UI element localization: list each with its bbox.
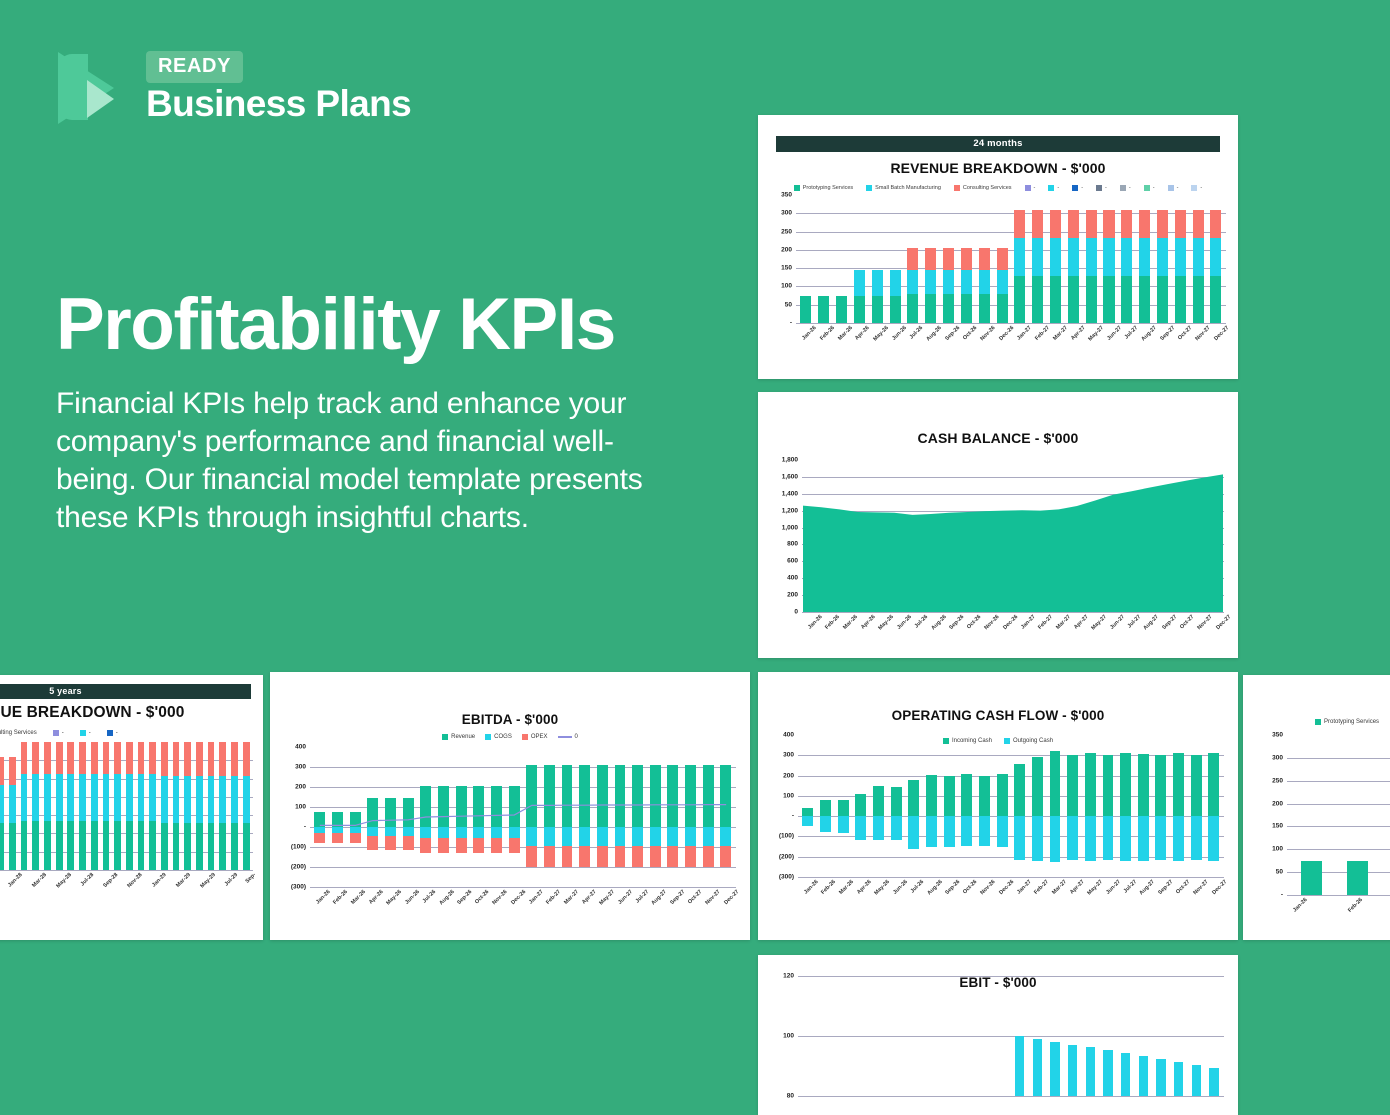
x-axis-tick-label: Jan-27 xyxy=(1020,614,1037,631)
bar-segment xyxy=(184,823,191,870)
bar-segment xyxy=(0,823,4,870)
bar-segment xyxy=(997,816,1008,847)
bar-segment xyxy=(91,821,98,871)
bar-column xyxy=(1082,195,1100,323)
x-axis-labels: Mar-27May-27Jul-27Sep-27Nov-27Jan-28Mar-… xyxy=(0,872,253,878)
bar-column xyxy=(1118,195,1136,323)
x-axis-tick-label: Oct-26 xyxy=(966,614,982,630)
bar-segment xyxy=(21,742,28,774)
legend-item: - xyxy=(1191,185,1202,191)
x-axis-tick-label: Nov-27 xyxy=(705,889,722,906)
legend-swatch-icon xyxy=(1048,185,1054,191)
bar-segment xyxy=(1032,757,1043,816)
bar-segment xyxy=(1157,276,1168,323)
y-axis-tick-label: 200 xyxy=(1253,800,1283,807)
legend-item: Prototyping Services xyxy=(794,185,853,191)
x-axis-tick-label: Jan-26 xyxy=(801,325,818,342)
y-axis-tick-label: 100 xyxy=(1253,846,1283,853)
bar-segment xyxy=(138,821,145,871)
bar-column xyxy=(1047,195,1065,323)
x-axis-tick-label: Mar-26 xyxy=(842,614,859,631)
legend-label: - xyxy=(1105,185,1107,191)
x-axis-tick-label: Dec-27 xyxy=(1211,879,1228,896)
chart-title-operating-cash-flow: OPERATING CASH FLOW - $'000 xyxy=(758,708,1238,723)
gridline xyxy=(0,870,253,871)
bar-column xyxy=(923,735,941,877)
gridline xyxy=(1287,895,1390,896)
bar-segment xyxy=(943,294,954,323)
gridline xyxy=(798,1096,1224,1097)
bar-stack xyxy=(1157,195,1168,323)
bar-segment xyxy=(836,296,847,323)
bar-stack xyxy=(1193,195,1204,323)
y-axis-tick-label: 200 xyxy=(766,246,792,253)
x-axis-tick-label: Oct-26 xyxy=(962,325,978,341)
legend-swatch-icon xyxy=(53,730,59,736)
legend-item: OPEX xyxy=(522,734,548,740)
y-axis-tick-label: (200) xyxy=(766,853,794,860)
bar-segment xyxy=(138,742,145,774)
bar-segment xyxy=(1301,861,1322,895)
bar-segment xyxy=(907,248,918,270)
chart-card-ebit[interactable]: EBIT - $'000 12010080 xyxy=(758,955,1238,1115)
x-axis-tick-label: Mar-26 xyxy=(350,889,367,906)
bar-segment xyxy=(979,776,990,817)
bar-column xyxy=(88,742,100,870)
chart-card-cash-balance[interactable]: CASH BALANCE - $'000 02004006008001,0001… xyxy=(758,392,1238,658)
legend-label: - xyxy=(116,730,118,736)
bar-stack xyxy=(21,742,28,870)
x-axis-tick-label: Jan-27 xyxy=(528,889,545,906)
bar-segment xyxy=(1191,755,1202,816)
x-axis-tick-label: Mar-29 xyxy=(175,872,192,889)
legend-swatch-icon xyxy=(522,734,528,740)
bar-column xyxy=(799,976,817,1096)
bar-column xyxy=(1029,735,1047,877)
bar-column xyxy=(940,976,958,1096)
bar-segment xyxy=(1050,276,1061,323)
bar-column xyxy=(817,976,835,1096)
x-axis-tick-label: Jun-27 xyxy=(1109,614,1126,631)
bar-segment xyxy=(820,816,831,832)
bar-segment xyxy=(1138,816,1149,861)
bar-segment xyxy=(997,774,1008,816)
bar-segment xyxy=(1103,1050,1112,1097)
bar-segment xyxy=(890,270,901,296)
x-axis-tick-label: May-26 xyxy=(873,325,890,342)
x-axis-tick-label: Feb-26 xyxy=(819,325,836,342)
bar-stack xyxy=(1121,195,1132,323)
x-axis-tick-label: Oct-27 xyxy=(687,889,703,905)
bar-segment xyxy=(1138,754,1149,816)
bar-segment xyxy=(79,742,86,774)
bar-segment xyxy=(1347,861,1368,895)
bar-segment xyxy=(91,742,98,774)
legend-item: - xyxy=(1168,185,1179,191)
bar-segment xyxy=(1208,753,1219,816)
bar-segment xyxy=(1209,1068,1218,1097)
bar-column xyxy=(905,976,923,1096)
x-axis-tick-label: Jun-27 xyxy=(1105,879,1122,896)
legend-label: OPEX xyxy=(531,734,548,740)
x-axis-tick-label: Sep-27 xyxy=(1157,879,1174,896)
bar-segment xyxy=(979,816,990,846)
bar-column xyxy=(1064,195,1082,323)
bar-stack xyxy=(91,742,98,870)
bar-column xyxy=(940,195,958,323)
y-axis-tick-label: 50 xyxy=(1253,869,1283,876)
page-title: Profitability KPIs xyxy=(56,288,615,361)
y-axis-tick-label: 350 xyxy=(1253,732,1283,739)
bar-segment xyxy=(872,296,883,323)
bar-segment xyxy=(9,785,16,823)
bar-stack xyxy=(1014,195,1025,323)
legend-item: - xyxy=(1025,185,1036,191)
bar-segment xyxy=(1156,1059,1165,1097)
x-axis-tick-label: Jun-27 xyxy=(617,889,634,906)
legend-item: Small Batch Manufacturing xyxy=(866,185,941,191)
brand-logo-block: READY Business Plans xyxy=(58,50,411,124)
x-axis-tick-label: Dec-27 xyxy=(1215,614,1232,631)
legend-label: Prototyping Services xyxy=(1324,719,1379,725)
x-axis-tick-label: May-27 xyxy=(1088,325,1105,342)
bar-segment xyxy=(1155,816,1166,860)
bar-segment xyxy=(1086,276,1097,323)
x-axis-tick-label: Dec-27 xyxy=(1213,325,1230,342)
bar-segment xyxy=(1173,753,1184,816)
bar-column xyxy=(958,976,976,1096)
x-axis-tick-label: Nov-26 xyxy=(984,614,1001,631)
y-axis-tick-label: (100) xyxy=(766,833,794,840)
bar-segment xyxy=(0,785,4,823)
bar-column xyxy=(1029,976,1047,1096)
x-axis-tick-label: Aug-27 xyxy=(651,889,668,906)
bar-segment xyxy=(979,270,990,295)
legend-label: - xyxy=(1200,185,1202,191)
bar-segment xyxy=(1050,210,1061,237)
x-axis-tick-label: Mar-27 xyxy=(1055,614,1072,631)
bar-column xyxy=(1334,735,1380,895)
bar-segment xyxy=(854,270,865,296)
chart-card-revenue-breakdown-24m[interactable]: 24 months REVENUE BREAKDOWN - $'000 Prot… xyxy=(758,115,1238,379)
y-axis-tick-label: (100) xyxy=(278,844,306,851)
y-axis-tick-label: 400 xyxy=(766,732,794,739)
bar-stack xyxy=(836,195,847,323)
x-axis-tick-label: Mar-27 xyxy=(1051,879,1068,896)
x-axis-tick-label: Dec-27 xyxy=(723,889,740,906)
bar-column xyxy=(147,742,159,870)
x-axis-tick-label: Aug-27 xyxy=(1139,879,1156,896)
bar-segment xyxy=(1210,276,1221,323)
gridline xyxy=(796,323,1226,324)
x-axis-tick-label: Jan-26 xyxy=(807,614,824,631)
chart-legend-ebitda: RevenueCOGSOPEX0 xyxy=(270,734,750,740)
bar-stack xyxy=(943,195,954,323)
y-axis-tick-label: 1,800 xyxy=(768,457,798,464)
bar-segment xyxy=(1173,816,1184,861)
bar-segment xyxy=(1067,755,1078,816)
bar-segment xyxy=(1103,210,1114,237)
x-axis-tick-label: Sep-28 xyxy=(102,872,119,889)
x-axis-tick-label: Apr-26 xyxy=(860,614,877,631)
bar-segment xyxy=(208,742,215,776)
bar-column xyxy=(65,742,77,870)
bar-column xyxy=(868,195,886,323)
bar-segment xyxy=(855,794,866,816)
bar-segment xyxy=(173,776,180,823)
bar-segment xyxy=(196,776,203,823)
bar-column xyxy=(217,742,229,870)
bar-segment xyxy=(1085,753,1096,816)
bar-segment xyxy=(1086,210,1097,237)
y-axis-tick-label: 200 xyxy=(768,592,798,599)
bar-column xyxy=(904,195,922,323)
x-axis-tick-label: May-28 xyxy=(55,872,72,889)
bar-segment xyxy=(820,800,831,816)
x-axis-tick-label: Mar-27 xyxy=(563,889,580,906)
ebitda-line xyxy=(311,747,735,887)
bar-column xyxy=(993,735,1011,877)
bar-stack xyxy=(0,742,4,870)
bar-column xyxy=(850,195,868,323)
chart-card-operating-cash-flow[interactable]: OPERATING CASH FLOW - $'000 Incoming Cas… xyxy=(758,672,1238,940)
bar-column xyxy=(834,735,852,877)
chart-card-revenue-breakdown-5y[interactable]: 5 years REVENUE BREAKDOWN - $'000 Small … xyxy=(0,675,263,940)
cash-balance-area xyxy=(803,460,1223,612)
bar-segment xyxy=(161,742,168,776)
bar-segment xyxy=(855,816,866,840)
legend-label: Consulting Services xyxy=(0,730,37,736)
x-axis-tick-label: Sep-26 xyxy=(944,325,961,342)
bar-segment xyxy=(925,270,936,295)
bar-segment xyxy=(979,248,990,270)
bar-column xyxy=(159,742,171,870)
bar-segment xyxy=(891,816,902,840)
bar-stack xyxy=(1086,195,1097,323)
bar-column xyxy=(1082,976,1100,1096)
y-axis-tick-label: 100 xyxy=(766,283,792,290)
bar-column xyxy=(1117,735,1135,877)
bar-column xyxy=(1187,976,1205,1096)
legend-label: 0 xyxy=(575,734,578,740)
bar-segment xyxy=(1032,210,1043,237)
bar-column xyxy=(42,742,54,870)
bar-segment xyxy=(67,742,74,774)
x-axis-tick-label: Jul-26 xyxy=(421,889,436,904)
bar-segment xyxy=(1193,276,1204,323)
bar-segment xyxy=(961,816,972,846)
bar-segment xyxy=(1175,238,1186,276)
bar-column xyxy=(1011,195,1029,323)
bar-column xyxy=(1064,735,1082,877)
bar-segment xyxy=(219,823,226,870)
bar-column xyxy=(1100,195,1118,323)
legend-swatch-icon xyxy=(954,185,960,191)
bar-column xyxy=(886,195,904,323)
legend-item: Revenue xyxy=(442,734,475,740)
chart-card-revenue-breakdown-right[interactable]: Prototyping Services -501001502002503003… xyxy=(1243,675,1390,940)
chart-card-ebitda[interactable]: EBITDA - $'000 RevenueCOGSOPEX0 40030020… xyxy=(270,672,750,940)
x-axis-tick-label: Feb-26 xyxy=(1347,897,1364,914)
bar-column xyxy=(77,742,89,870)
bar-stack xyxy=(1068,195,1079,323)
bar-column xyxy=(852,976,870,1096)
bar-segment xyxy=(231,742,238,776)
bar-segment xyxy=(961,774,972,816)
x-axis-tick-label: Jan-26 xyxy=(315,889,332,906)
x-axis-tick-label: Apr-27 xyxy=(581,889,598,906)
y-axis-tick-label: 1,600 xyxy=(768,473,798,480)
bar-segment xyxy=(32,774,39,820)
bar-segment xyxy=(1193,238,1204,276)
bar-segment xyxy=(1121,276,1132,323)
bar-stack xyxy=(1175,195,1186,323)
bar-column xyxy=(182,742,194,870)
x-axis-tick-label: Sep-26 xyxy=(457,889,474,906)
bar-segment xyxy=(838,816,849,833)
bar-column xyxy=(1046,976,1064,1096)
x-axis-tick-label: Apr-26 xyxy=(856,879,873,896)
bar-segment xyxy=(243,823,250,870)
bar-column xyxy=(905,735,923,877)
bar-segment xyxy=(161,776,168,823)
bar-segment xyxy=(21,774,28,820)
bar-segment xyxy=(1193,210,1204,237)
y-axis-tick-label: 250 xyxy=(766,228,792,235)
bar-segment xyxy=(1120,753,1131,816)
bar-segment xyxy=(114,821,121,871)
bar-stack xyxy=(161,742,168,870)
bar-segment xyxy=(114,774,121,820)
chart-title-revenue-breakdown-5y: REVENUE BREAKDOWN - $'000 xyxy=(0,704,263,722)
x-axis-tick-label: Oct-27 xyxy=(1179,614,1195,630)
bar-stack xyxy=(1210,195,1221,323)
bar-segment xyxy=(149,742,156,774)
y-axis-tick-label: 200 xyxy=(278,784,306,791)
gridline xyxy=(798,877,1224,878)
y-axis-tick-label: 150 xyxy=(1253,823,1283,830)
bar-column xyxy=(1029,195,1047,323)
bar-column xyxy=(799,735,817,877)
legend-label: COGS xyxy=(494,734,512,740)
bar-stack xyxy=(173,742,180,870)
bar-segment xyxy=(1086,1047,1095,1097)
bar-stack xyxy=(800,195,811,323)
x-axis-tick-label: May-27 xyxy=(1091,614,1108,631)
x-axis-tick-label: Nov-26 xyxy=(980,325,997,342)
x-axis-tick-label: Jun-26 xyxy=(891,325,908,342)
legend-label: Consulting Services xyxy=(963,185,1012,191)
bar-column xyxy=(834,976,852,1096)
legend-item: - xyxy=(1048,185,1059,191)
chart-legend-revenue-24m: Prototyping ServicesSmall Batch Manufact… xyxy=(758,185,1238,191)
bar-segment xyxy=(231,823,238,870)
bar-segment xyxy=(979,294,990,323)
bar-column xyxy=(7,742,19,870)
bar-segment xyxy=(1068,210,1079,237)
bar-segment xyxy=(1208,816,1219,861)
x-axis-tick-label: Jul-27 xyxy=(1124,325,1139,340)
x-axis-tick-label: Jul-26 xyxy=(913,614,928,629)
legend-label: - xyxy=(1057,185,1059,191)
bar-column xyxy=(1152,735,1170,877)
x-axis-tick-label: Jul-29 xyxy=(223,872,238,887)
legend-label: - xyxy=(62,730,64,736)
bar-stack xyxy=(67,742,74,870)
bar-segment xyxy=(1121,1053,1130,1097)
bar-stack xyxy=(243,742,250,870)
x-axis-tick-label: Apr-27 xyxy=(1073,614,1090,631)
legend-swatch-icon xyxy=(80,730,86,736)
bar-segment xyxy=(1033,1039,1042,1096)
bar-segment xyxy=(1014,816,1025,860)
bar-column xyxy=(833,195,851,323)
legend-item: Consulting Services xyxy=(0,730,37,736)
bar-segment xyxy=(802,808,813,817)
bar-column xyxy=(1136,195,1154,323)
bar-segment xyxy=(1068,276,1079,323)
legend-item: COGS xyxy=(485,734,512,740)
x-axis-tick-label: May-26 xyxy=(878,614,895,631)
bar-column xyxy=(1189,195,1207,323)
bar-segment xyxy=(1174,1062,1183,1097)
bar-segment xyxy=(149,774,156,820)
x-axis-tick-label: Apr-27 xyxy=(1069,879,1086,896)
bar-stack xyxy=(208,742,215,870)
x-axis-tick-label: Jun-27 xyxy=(1106,325,1123,342)
x-axis-tick-label: Aug-27 xyxy=(1140,325,1157,342)
bar-stack xyxy=(961,195,972,323)
bar-stack xyxy=(56,742,63,870)
x-axis-tick-label: Sep-27 xyxy=(669,889,686,906)
bar-segment xyxy=(1139,238,1150,276)
y-axis-tick-label: 100 xyxy=(766,1033,794,1040)
y-axis-tick-label: 600 xyxy=(768,558,798,565)
bar-segment xyxy=(0,757,4,784)
legend-item: Consulting Services xyxy=(954,185,1012,191)
bar-segment xyxy=(243,742,250,776)
x-axis-tick-label: Jun-26 xyxy=(404,889,421,906)
bar-segment xyxy=(9,757,16,784)
x-axis-tick-label: Mar-27 xyxy=(1052,325,1069,342)
x-axis-labels: Jan-26Feb-26Mar-26Apr-26May-26Jun-26Jul-… xyxy=(798,879,1224,885)
bar-column xyxy=(1187,735,1205,877)
chart-plot-revenue-24m: -50100150200250300350Jan-26Feb-26Mar-26A… xyxy=(766,195,1228,323)
bar-segment xyxy=(9,823,16,870)
x-axis-tick-label: Apr-26 xyxy=(855,325,872,342)
bar-segment xyxy=(126,821,133,871)
play-triangle-inner-icon xyxy=(87,80,114,118)
x-axis-tick-label: May-27 xyxy=(1087,879,1104,896)
bar-segment xyxy=(1175,276,1186,323)
bar-column xyxy=(1171,195,1189,323)
y-axis-tick-label: - xyxy=(1253,892,1283,899)
bar-segment xyxy=(943,248,954,270)
x-axis-tick-label: Sep-27 xyxy=(1161,614,1178,631)
bar-segment xyxy=(91,774,98,820)
bar-segment xyxy=(1155,755,1166,816)
bar-segment xyxy=(44,821,51,871)
bar-column xyxy=(976,976,994,1096)
bar-column xyxy=(229,742,241,870)
bar-segment xyxy=(907,270,918,295)
bar-segment xyxy=(1157,238,1168,276)
x-axis-tick-label: Feb-27 xyxy=(1034,325,1051,342)
x-axis-tick-label: Sep- xyxy=(244,872,257,885)
chart-title-ebitda: EBITDA - $'000 xyxy=(270,712,750,727)
bar-segment xyxy=(1139,210,1150,237)
x-axis-tick-label: Jan-27 xyxy=(1016,879,1033,896)
